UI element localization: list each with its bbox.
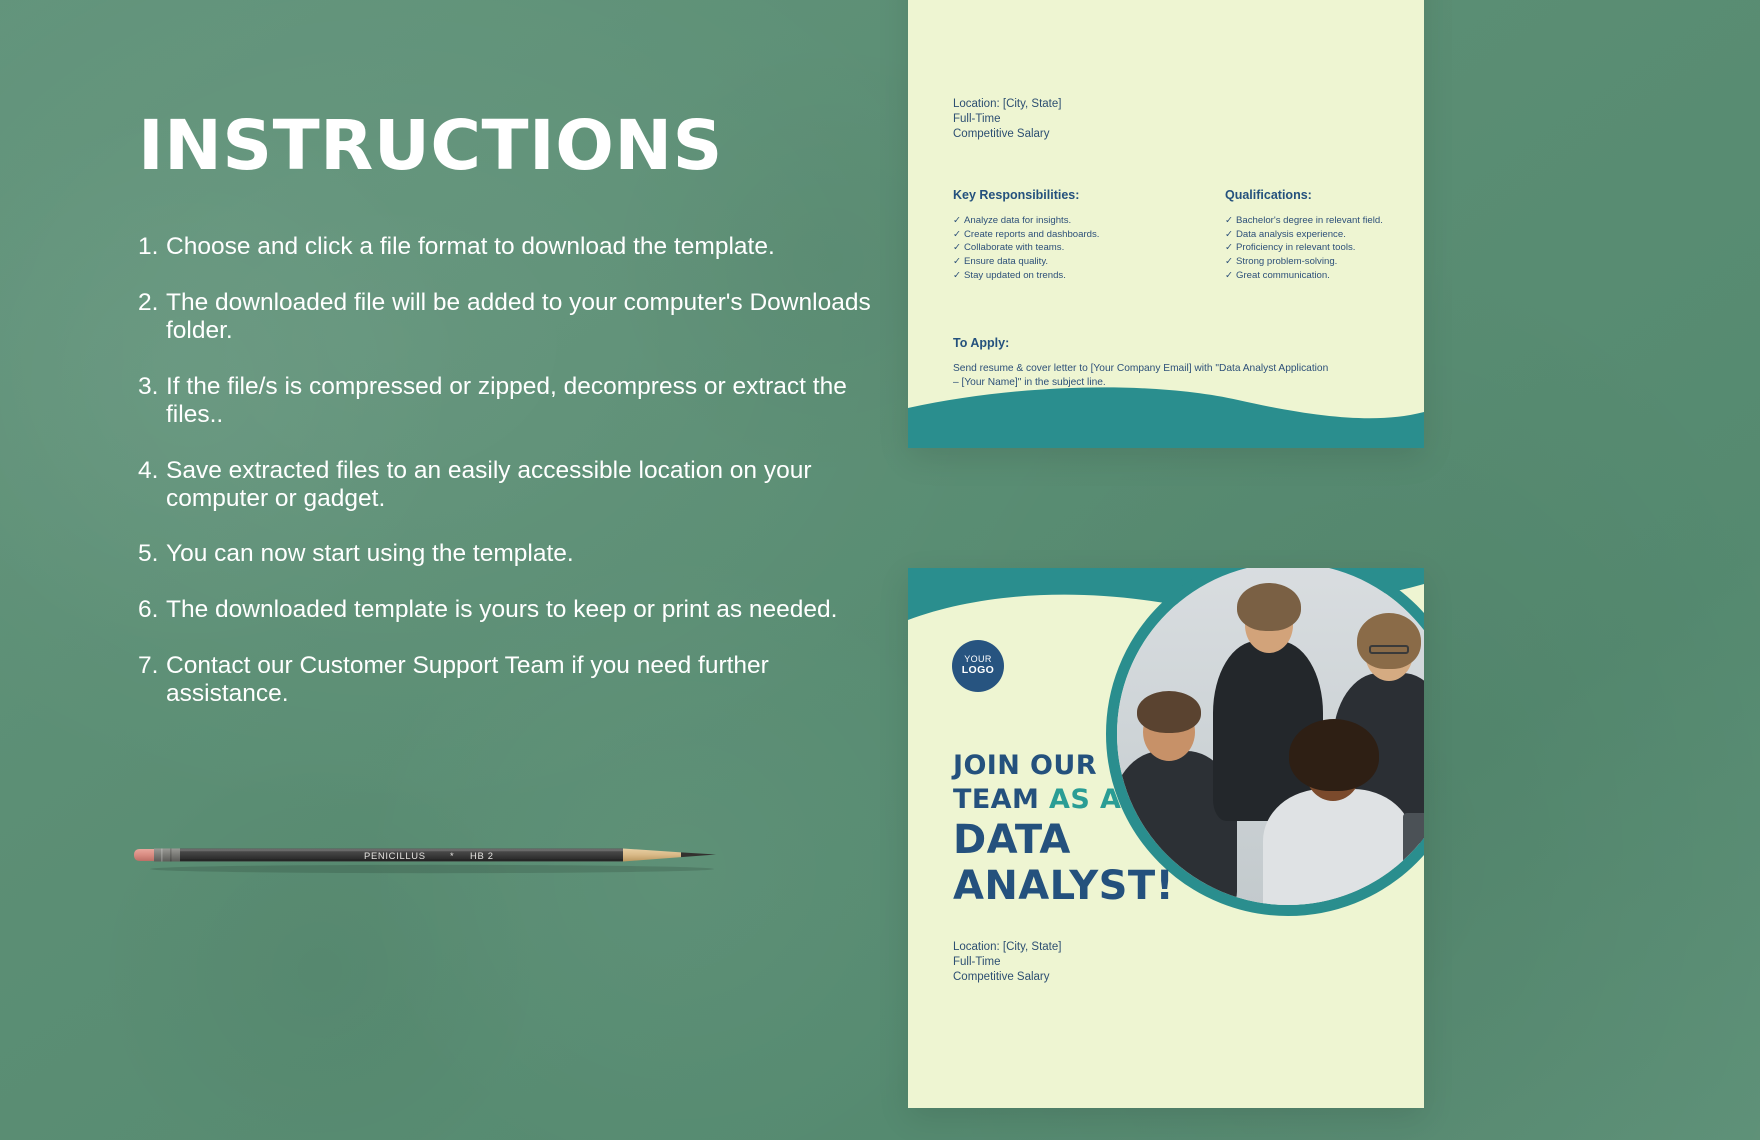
list-item-text: Create reports and dashboards. xyxy=(964,229,1099,240)
poster-bottom-headline-line3: DATA xyxy=(953,820,1071,862)
check-icon: ✓ xyxy=(953,255,964,269)
poster-top-meta-location: Location: [City, State] xyxy=(953,97,1061,112)
to-apply-title: To Apply: xyxy=(953,336,1009,350)
list-item-number: 4. xyxy=(138,457,166,513)
list-item-text: Bachelor's degree in relevant field. xyxy=(1236,215,1383,226)
poster-bottom-meta-salary: Competitive Salary xyxy=(953,970,1061,985)
list-item: 6. The downloaded template is yours to k… xyxy=(138,596,878,624)
poster-card-top[interactable]: DATA ANALYST! Location: [City, State] Fu… xyxy=(908,0,1424,448)
team-photo-bottom xyxy=(1117,568,1424,905)
list-item-text: Stay updated on trends. xyxy=(964,270,1066,281)
check-icon: ✓ xyxy=(1225,214,1236,228)
slide-canvas: INSTRUCTIONS 1. Choose and click a file … xyxy=(0,0,1760,1140)
pencil-grade-text: HB 2 xyxy=(470,850,494,861)
qualifications-title: Qualifications: xyxy=(1225,188,1312,202)
list-item-text: Contact our Customer Support Team if you… xyxy=(166,652,878,708)
logo-badge[interactable]: YOUR LOGO xyxy=(952,640,1004,692)
list-item: 5. You can now start using the template. xyxy=(138,540,878,568)
poster-bottom-meta-type: Full-Time xyxy=(953,955,1061,970)
pencil-brand-text: PENICILLUS xyxy=(364,850,426,861)
check-icon: ✓ xyxy=(1225,228,1236,242)
list-item-text: Analyze data for insights. xyxy=(964,215,1071,226)
list-item-text: Save extracted files to an easily access… xyxy=(166,457,878,513)
check-icon: ✓ xyxy=(953,241,964,255)
list-item: 4. Save extracted files to an easily acc… xyxy=(138,457,878,513)
teal-wave-bottom xyxy=(908,378,1424,448)
check-icon: ✓ xyxy=(1225,269,1236,283)
check-icon: ✓ xyxy=(953,228,964,242)
list-item: ✓Ensure data quality. xyxy=(953,255,1099,269)
list-item-text: If the file/s is compressed or zipped, d… xyxy=(166,373,878,429)
list-item: ✓Great communication. xyxy=(1225,269,1383,283)
logo-badge-line2: LOGO xyxy=(962,665,995,676)
poster-bottom-headline-asa: AS A xyxy=(1049,784,1121,815)
key-responsibilities-title: Key Responsibilities: xyxy=(953,188,1079,202)
list-item-text: Strong problem-solving. xyxy=(1236,256,1337,267)
list-item-number: 2. xyxy=(138,289,166,345)
list-item: 3. If the file/s is compressed or zipped… xyxy=(138,373,878,429)
instructions-list: 1. Choose and click a file format to dow… xyxy=(138,233,878,708)
check-icon: ✓ xyxy=(1225,241,1236,255)
poster-top-meta-type: Full-Time xyxy=(953,112,1061,127)
list-item: ✓Bachelor's degree in relevant field. xyxy=(1225,214,1383,228)
poster-bottom-headline-line1: JOIN OUR xyxy=(953,752,1097,780)
poster-bottom-headline-line4: ANALYST! xyxy=(953,866,1174,908)
list-item-text: Choose and click a file format to downlo… xyxy=(166,233,878,261)
qualifications-list: ✓Bachelor's degree in relevant field. ✓D… xyxy=(1225,214,1383,283)
page-title: INSTRUCTIONS xyxy=(138,112,878,181)
list-item-number: 5. xyxy=(138,540,166,568)
pencil-illustration: PENICILLUS * HB 2 xyxy=(132,838,724,874)
list-item: ✓Proficiency in relevant tools. xyxy=(1225,241,1383,255)
check-icon: ✓ xyxy=(953,214,964,228)
list-item: ✓Strong problem-solving. xyxy=(1225,255,1383,269)
poster-bottom-meta-location: Location: [City, State] xyxy=(953,940,1061,955)
check-icon: ✓ xyxy=(953,269,964,283)
list-item: ✓Create reports and dashboards. xyxy=(953,228,1099,242)
to-apply-line1: Send resume & cover letter to [Your Comp… xyxy=(953,362,1393,376)
poster-top-meta-salary: Competitive Salary xyxy=(953,127,1061,142)
list-item-number: 1. xyxy=(138,233,166,261)
poster-bottom-meta: Location: [City, State] Full-Time Compet… xyxy=(953,940,1061,986)
list-item-number: 3. xyxy=(138,373,166,429)
list-item: 2. The downloaded file will be added to … xyxy=(138,289,878,345)
list-item: ✓Collaborate with teams. xyxy=(953,241,1099,255)
list-item-text: You can now start using the template. xyxy=(166,540,878,568)
list-item-text: Ensure data quality. xyxy=(964,256,1048,267)
poster-card-bottom[interactable]: YOUR LOGO JOIN OUR TEAM AS A DATA ANALYS… xyxy=(908,568,1424,1108)
list-item-text: Proficiency in relevant tools. xyxy=(1236,242,1355,253)
background-texture-blob xyxy=(60,760,580,1140)
list-item-text: The downloaded file will be added to you… xyxy=(166,289,878,345)
check-icon: ✓ xyxy=(1225,255,1236,269)
key-responsibilities-list: ✓Analyze data for insights. ✓Create repo… xyxy=(953,214,1099,283)
list-item-text: The downloaded template is yours to keep… xyxy=(166,596,878,624)
list-item: ✓Stay updated on trends. xyxy=(953,269,1099,283)
pencil-separator: * xyxy=(450,850,454,861)
list-item: 7. Contact our Customer Support Team if … xyxy=(138,652,878,708)
list-item: 1. Choose and click a file format to dow… xyxy=(138,233,878,261)
instructions-panel: INSTRUCTIONS 1. Choose and click a file … xyxy=(138,112,878,736)
poster-top-meta: Location: [City, State] Full-Time Compet… xyxy=(953,97,1061,143)
list-item-text: Data analysis experience. xyxy=(1236,229,1346,240)
list-item-number: 6. xyxy=(138,596,166,624)
list-item-number: 7. xyxy=(138,652,166,708)
list-item-text: Great communication. xyxy=(1236,270,1330,281)
poster-bottom-headline-team: TEAM xyxy=(953,784,1049,815)
list-item: ✓Analyze data for insights. xyxy=(953,214,1099,228)
list-item: ✓Data analysis experience. xyxy=(1225,228,1383,242)
poster-bottom-headline-line2: TEAM AS A xyxy=(953,786,1121,814)
list-item-text: Collaborate with teams. xyxy=(964,242,1064,253)
